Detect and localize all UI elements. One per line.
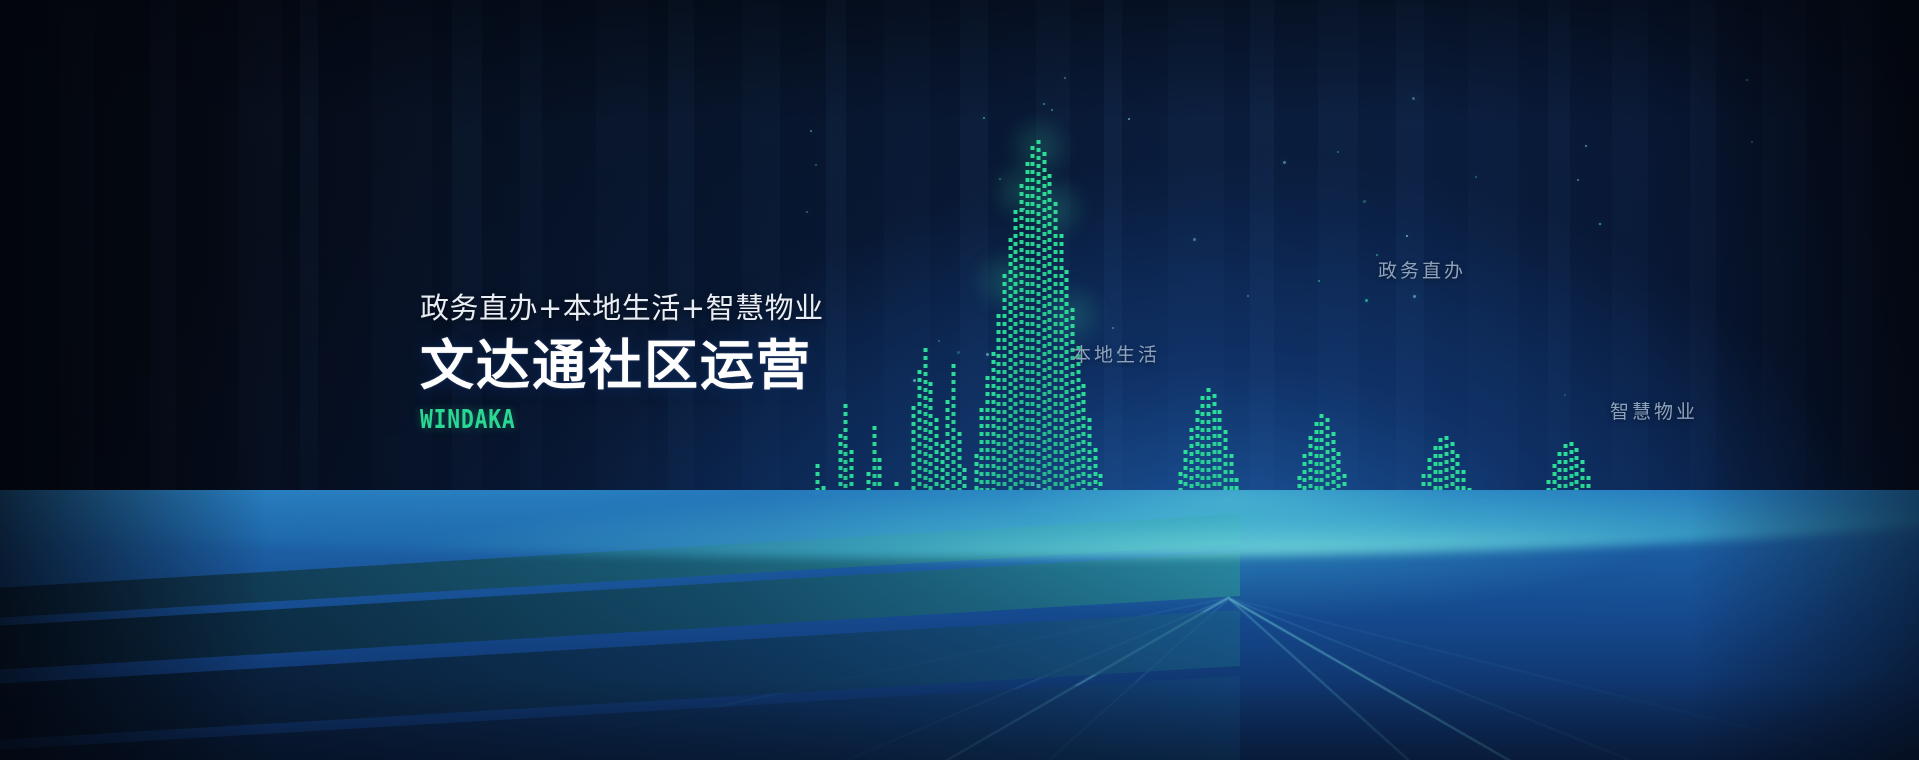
sparkle-dot xyxy=(1365,299,1368,302)
sparkle-dot xyxy=(1112,327,1114,329)
sparkle-dot xyxy=(806,211,808,213)
hero-headline: 文达通社区运营 xyxy=(420,339,824,393)
sparkle-dot xyxy=(957,351,960,354)
sparkle-dot xyxy=(1413,295,1416,298)
sparkle-dot xyxy=(810,130,812,132)
sparkle-dot xyxy=(999,178,1001,180)
sparkle-dot xyxy=(1043,103,1045,105)
sparkle-dot xyxy=(1337,151,1339,153)
hero-tagline: 政务直办+本地生活+智慧物业 xyxy=(420,294,824,323)
sparkle-dot xyxy=(1585,145,1587,147)
float-label-2: 本地生活 xyxy=(1072,340,1160,367)
sparkle-dot xyxy=(1577,179,1579,181)
sparkle-dot xyxy=(1064,77,1066,79)
sparkle-dot xyxy=(1564,394,1566,396)
float-label-1: 政务直办 xyxy=(1378,256,1466,283)
tower-glow xyxy=(1023,174,1089,244)
sparkle-dot xyxy=(1475,176,1477,178)
sparkle-dot xyxy=(1746,79,1748,81)
hero-banner: 政务直办+本地生活+智慧物业 文达通社区运营 WINDAKA 政务直办本地生活智… xyxy=(0,0,1919,760)
tower-glow xyxy=(1006,112,1072,182)
sparkle-dot xyxy=(1363,200,1366,203)
sparkle-dot xyxy=(1318,280,1320,282)
sparkle-dot xyxy=(986,353,989,356)
sparkle-dot xyxy=(1193,238,1196,241)
sparkle-dot xyxy=(913,379,916,382)
hero-copy-block: 政务直办+本地生活+智慧物业 文达通社区运营 WINDAKA xyxy=(420,294,824,433)
sparkle-dot xyxy=(1412,97,1415,100)
sparkle-dot xyxy=(983,117,985,119)
sparkle-dot xyxy=(1023,208,1025,210)
ground-shadow-overlay xyxy=(0,490,1919,760)
sparkle-dot xyxy=(1751,141,1753,143)
perspective-ground xyxy=(0,490,1919,760)
brand-wordmark: WINDAKA xyxy=(420,407,751,433)
sparkle-dot xyxy=(1128,118,1130,120)
sparkle-dot xyxy=(938,340,940,342)
sparkle-dot xyxy=(1406,235,1408,237)
sparkle-dot xyxy=(1599,223,1601,225)
sparkle-dot xyxy=(1051,109,1053,111)
sparkle-dot xyxy=(1247,295,1249,297)
sparkle-dot xyxy=(1283,161,1286,164)
sparkle-dot xyxy=(815,164,817,166)
float-label-3: 智慧物业 xyxy=(1610,397,1698,424)
